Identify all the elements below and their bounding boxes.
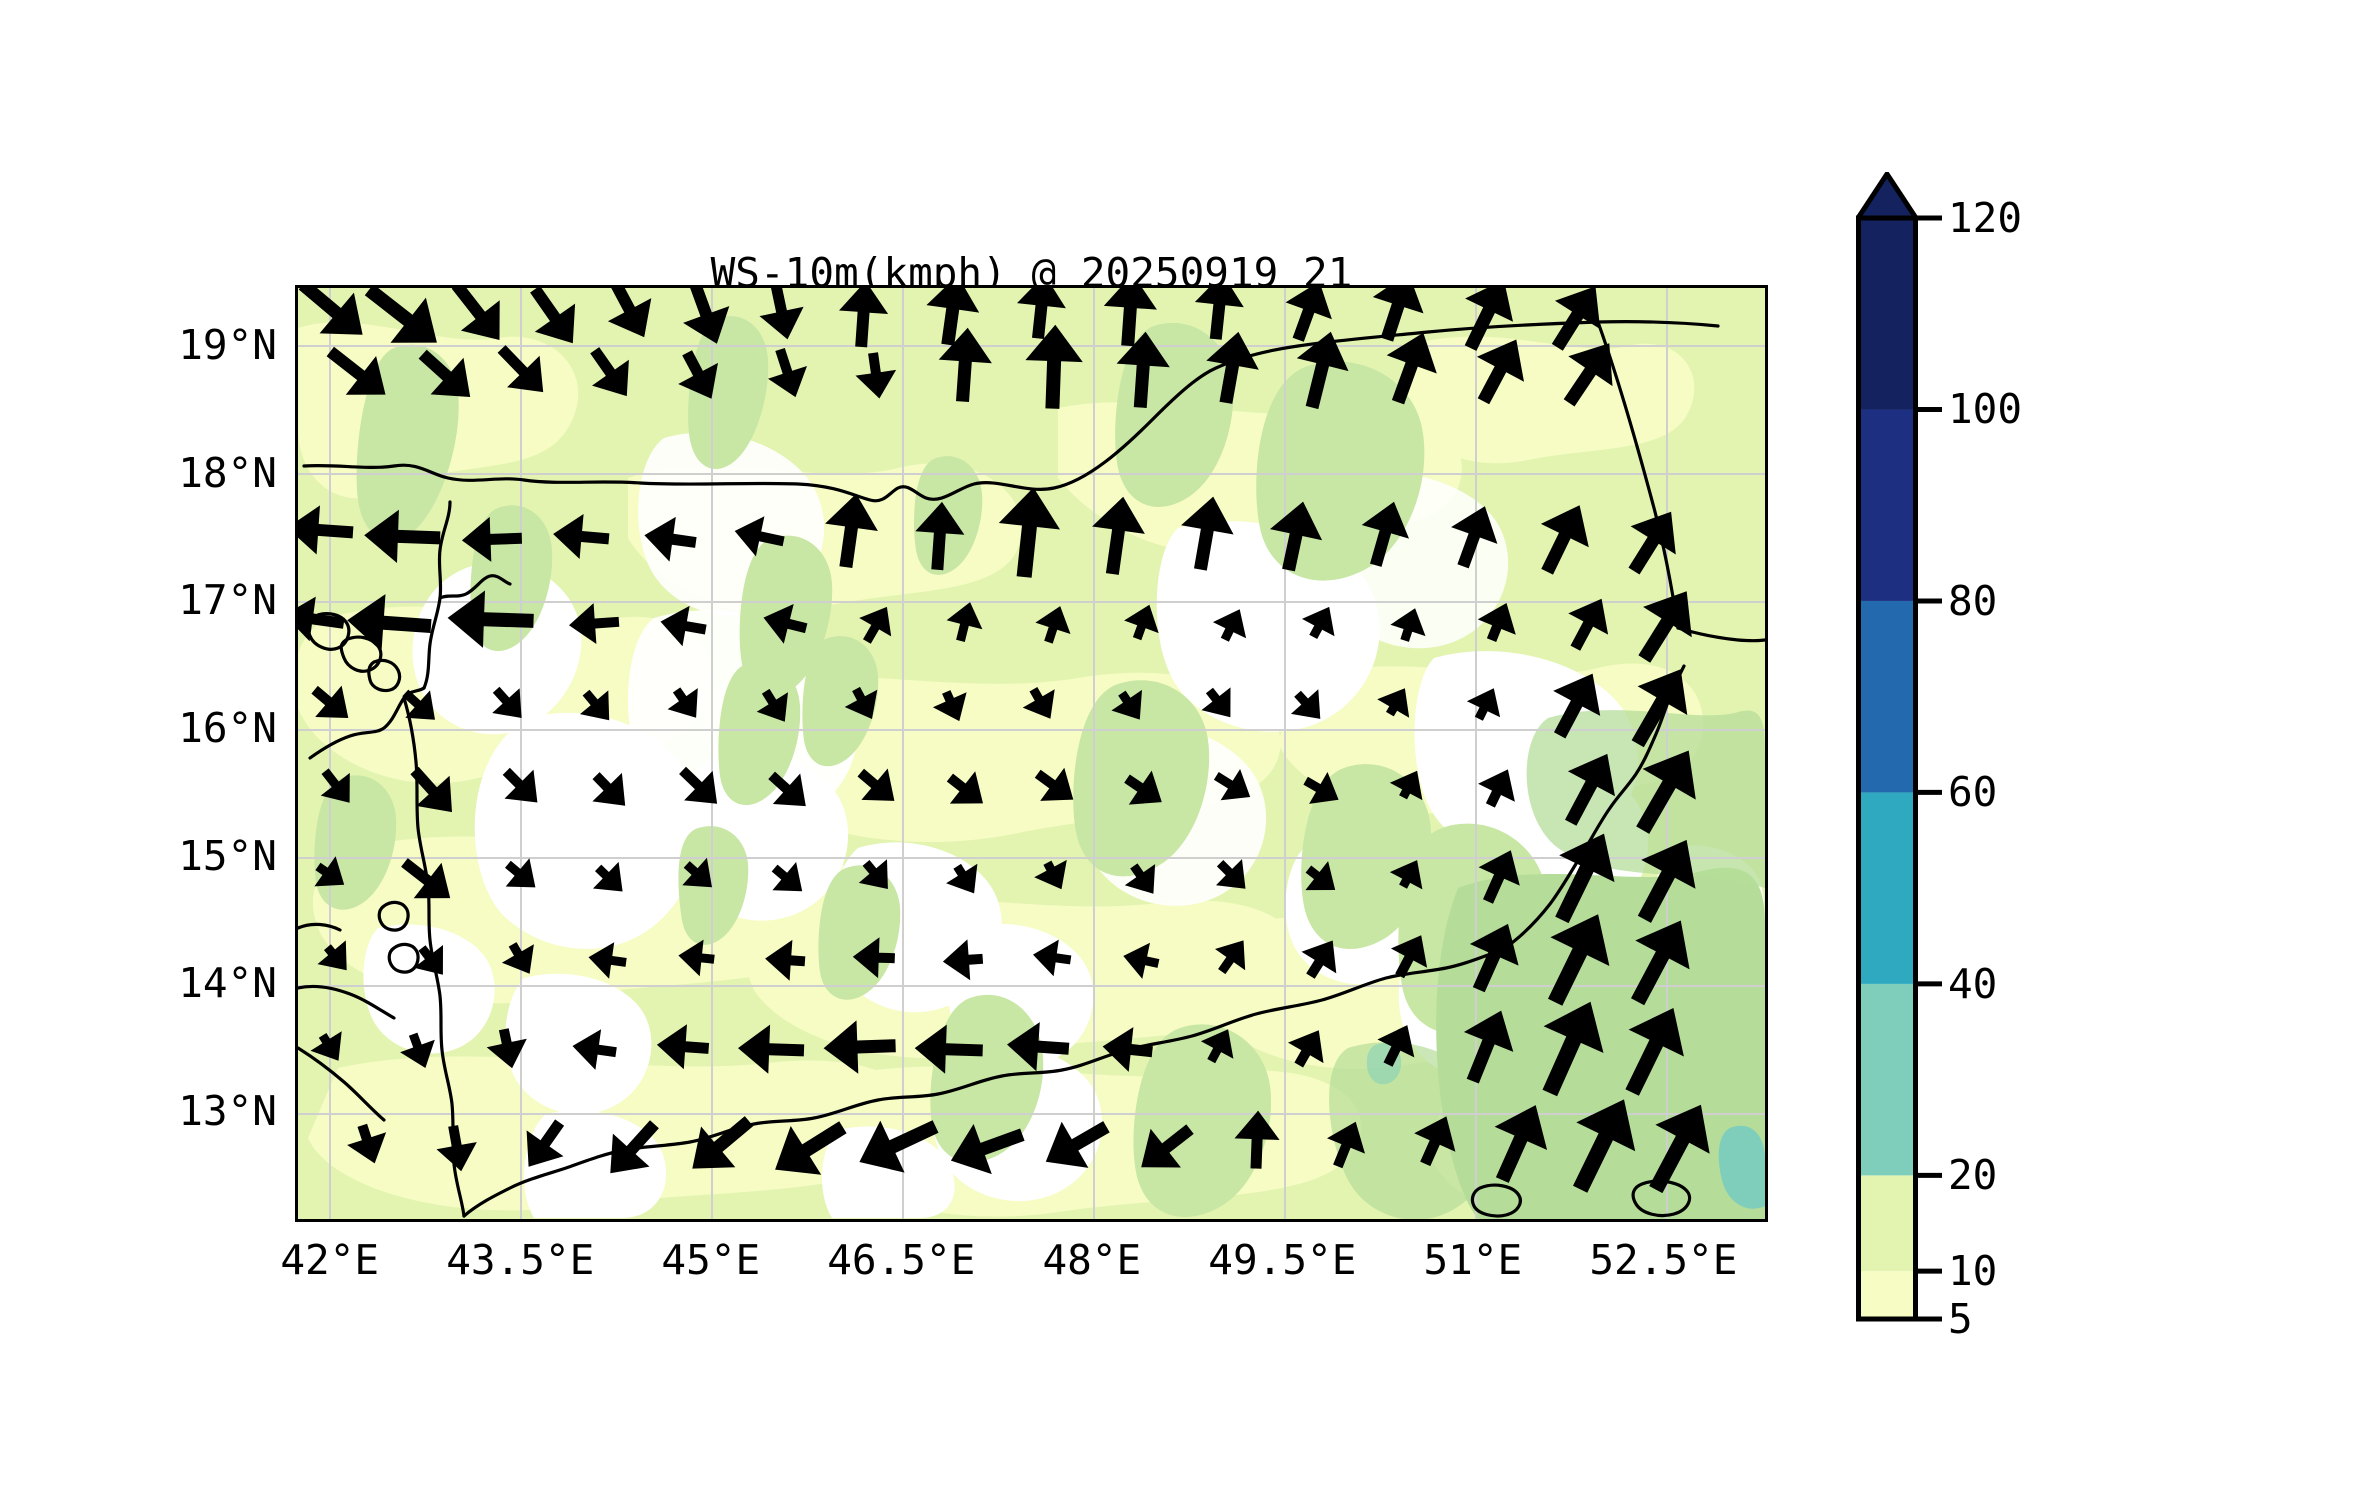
y-tick-label: 18°N [105, 449, 277, 497]
colorbar-tick-label: 5 [1948, 1295, 1973, 1343]
x-tick-label: 43.5°E [446, 1236, 594, 1284]
colorbar-band [1859, 409, 1916, 600]
colorbar-tick-label: 20 [1948, 1151, 1997, 1199]
colorbar [1856, 172, 1918, 1322]
figure-canvas: WS-10m(kmph) @ 20250919_21 Simulation Ti… [0, 0, 2371, 1500]
colorbar-tick-label: 100 [1948, 385, 2022, 433]
x-tick-label: 42°E [280, 1236, 379, 1284]
colorbar-tick-label: 80 [1948, 577, 1997, 625]
colorbar-band [1859, 601, 1916, 792]
contour-fill-layer [298, 288, 1765, 1219]
colorbar-band [1859, 1175, 1916, 1271]
y-tick-label: 19°N [105, 321, 277, 369]
x-tick-label: 49.5°E [1208, 1236, 1356, 1284]
colorbar-band [1859, 218, 1916, 409]
y-tick-label: 15°N [105, 832, 277, 880]
colorbar-tick-label: 10 [1948, 1247, 1997, 1295]
colorbar-band [1859, 792, 1916, 983]
y-tick-label: 17°N [105, 576, 277, 624]
y-tick-label: 14°N [105, 959, 277, 1007]
colorbar-tickmarks [1916, 172, 1950, 1322]
x-tick-label: 46.5°E [827, 1236, 975, 1284]
colorbar-tick-label: 40 [1948, 960, 1997, 1008]
map-axes [295, 285, 1768, 1222]
x-tick-label: 51°E [1423, 1236, 1522, 1284]
colorbar-tick-label: 60 [1948, 768, 1997, 816]
x-tick-label: 48°E [1042, 1236, 1141, 1284]
x-tick-label: 52.5°E [1589, 1236, 1737, 1284]
map-plot [298, 288, 1765, 1219]
y-tick-label: 16°N [105, 704, 277, 752]
x-tick-label: 45°E [661, 1236, 760, 1284]
colorbar-swatches [1856, 172, 1918, 1322]
y-tick-label: 13°N [105, 1087, 277, 1135]
colorbar-tick-label: 120 [1948, 194, 2022, 242]
colorbar-band [1859, 984, 1916, 1175]
colorbar-band [1859, 1271, 1916, 1319]
